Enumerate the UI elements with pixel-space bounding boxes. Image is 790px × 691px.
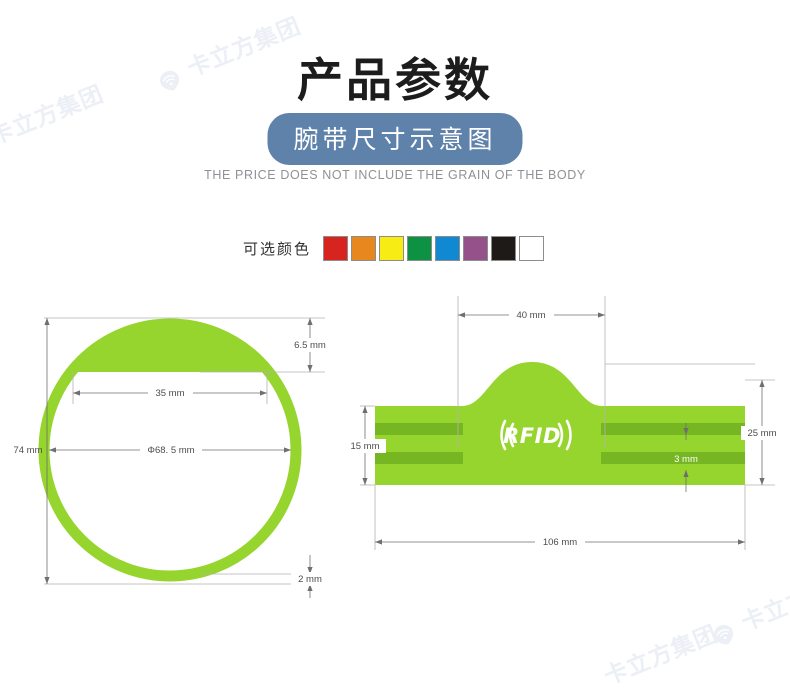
color-swatch-red[interactable]	[323, 236, 348, 261]
color-swatch-orange[interactable]	[351, 236, 376, 261]
dimension-diagrams: 74 mm Φ68. 5 mm 35 mm	[0, 280, 790, 665]
dim-thickness: 2 mm	[291, 555, 329, 598]
color-swatch-yellow[interactable]	[379, 236, 404, 261]
section-badge: 腕带尺寸示意图	[267, 113, 522, 165]
color-swatch-blue[interactable]	[435, 236, 460, 261]
rfid-logo: RFID	[502, 421, 571, 449]
dim-label-flat-head-height: 25 mm	[747, 428, 776, 439]
dim-label-diameter: Φ68. 5 mm	[147, 445, 194, 456]
page-title: 产品参数	[0, 44, 790, 110]
dim-label-head-width: 35 mm	[155, 388, 184, 399]
dim-label-strap-width: 15 mm	[350, 441, 379, 452]
dim-label-head-height: 6.5 mm	[294, 340, 326, 351]
dim-label-stripe-width: 3 mm	[674, 454, 698, 465]
dim-label-thickness: 2 mm	[298, 574, 322, 585]
wristband-head-cap	[73, 326, 267, 372]
dim-head-height: 6.5 mm	[289, 318, 331, 372]
color-options-label: 可选颜色	[243, 238, 311, 259]
color-swatch-white[interactable]	[519, 236, 544, 261]
dim-overall-length: 106 mm	[375, 535, 745, 549]
strap-stripe	[375, 452, 463, 464]
dim-head-width: 35 mm	[73, 386, 267, 400]
color-swatch-green[interactable]	[407, 236, 432, 261]
color-options: 可选颜色	[0, 236, 790, 261]
strap-stripe	[601, 452, 745, 464]
dim-label-height: 74 mm	[13, 445, 42, 456]
dim-label-flat-head-width: 40 mm	[516, 310, 545, 321]
product-spec-page: 卡立方集团 卡立方集团 卡立方集团 卡立方集团 产品参数 腕带尺寸示意图 THE…	[0, 0, 790, 665]
dim-label-overall-length: 106 mm	[543, 537, 577, 548]
strap-stripe	[601, 423, 745, 435]
wristband-flat-view: RFID 40 mm	[344, 296, 783, 550]
color-swatch-purple[interactable]	[463, 236, 488, 261]
dim-flat-head-width: 40 mm	[458, 308, 605, 322]
rfid-logo-text: RFID	[503, 424, 561, 448]
wristband-circle-view: 74 mm Φ68. 5 mm 35 mm	[13, 318, 331, 598]
dim-flat-head-height: 25 mm	[741, 380, 783, 485]
page-subtitle: THE PRICE DOES NOT INCLUDE THE GRAIN OF …	[0, 168, 790, 182]
dim-diameter: Φ68. 5 mm	[49, 443, 291, 457]
strap-stripe	[375, 423, 463, 435]
color-swatch-black[interactable]	[491, 236, 516, 261]
